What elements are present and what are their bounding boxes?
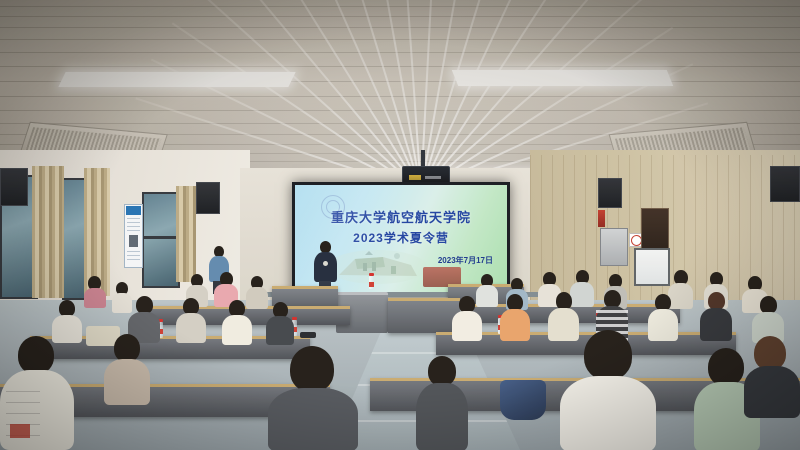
wall-poster (124, 204, 143, 268)
lecture-desk (388, 298, 460, 333)
window-curtain (176, 186, 196, 282)
presenter-torso (314, 252, 337, 282)
window (142, 192, 180, 288)
presenter-logo (323, 261, 328, 266)
seated-student (104, 334, 150, 404)
window-curtain (32, 166, 64, 298)
seated-student (0, 336, 74, 450)
wall-speaker (598, 178, 622, 208)
smartphone-on-desk (300, 332, 316, 338)
seated-student (416, 356, 468, 450)
seated-student (84, 276, 106, 306)
seated-student (700, 292, 732, 340)
window-mullion (142, 236, 176, 239)
seated-student (560, 330, 656, 450)
lecture-hall-photo: 重庆大学航空航天学院 2023学术夏令营 2023年7月17日 (0, 0, 800, 450)
tshirt-graphic-red (10, 424, 30, 438)
seated-student (452, 296, 482, 340)
electrical-cabinet (600, 228, 628, 266)
seated-student (500, 294, 530, 340)
seated-student (176, 298, 206, 342)
seated-student (266, 302, 294, 344)
fire-extinguisher (598, 210, 605, 227)
seated-student (268, 346, 358, 450)
draped-blue-jacket (500, 380, 546, 420)
water-bottle (369, 276, 374, 289)
seated-student (744, 336, 800, 416)
wall-speaker (196, 182, 220, 214)
wall-speaker (0, 168, 28, 206)
seated-student (222, 300, 252, 344)
whiteboard (634, 248, 670, 286)
wall-speaker (770, 166, 800, 202)
